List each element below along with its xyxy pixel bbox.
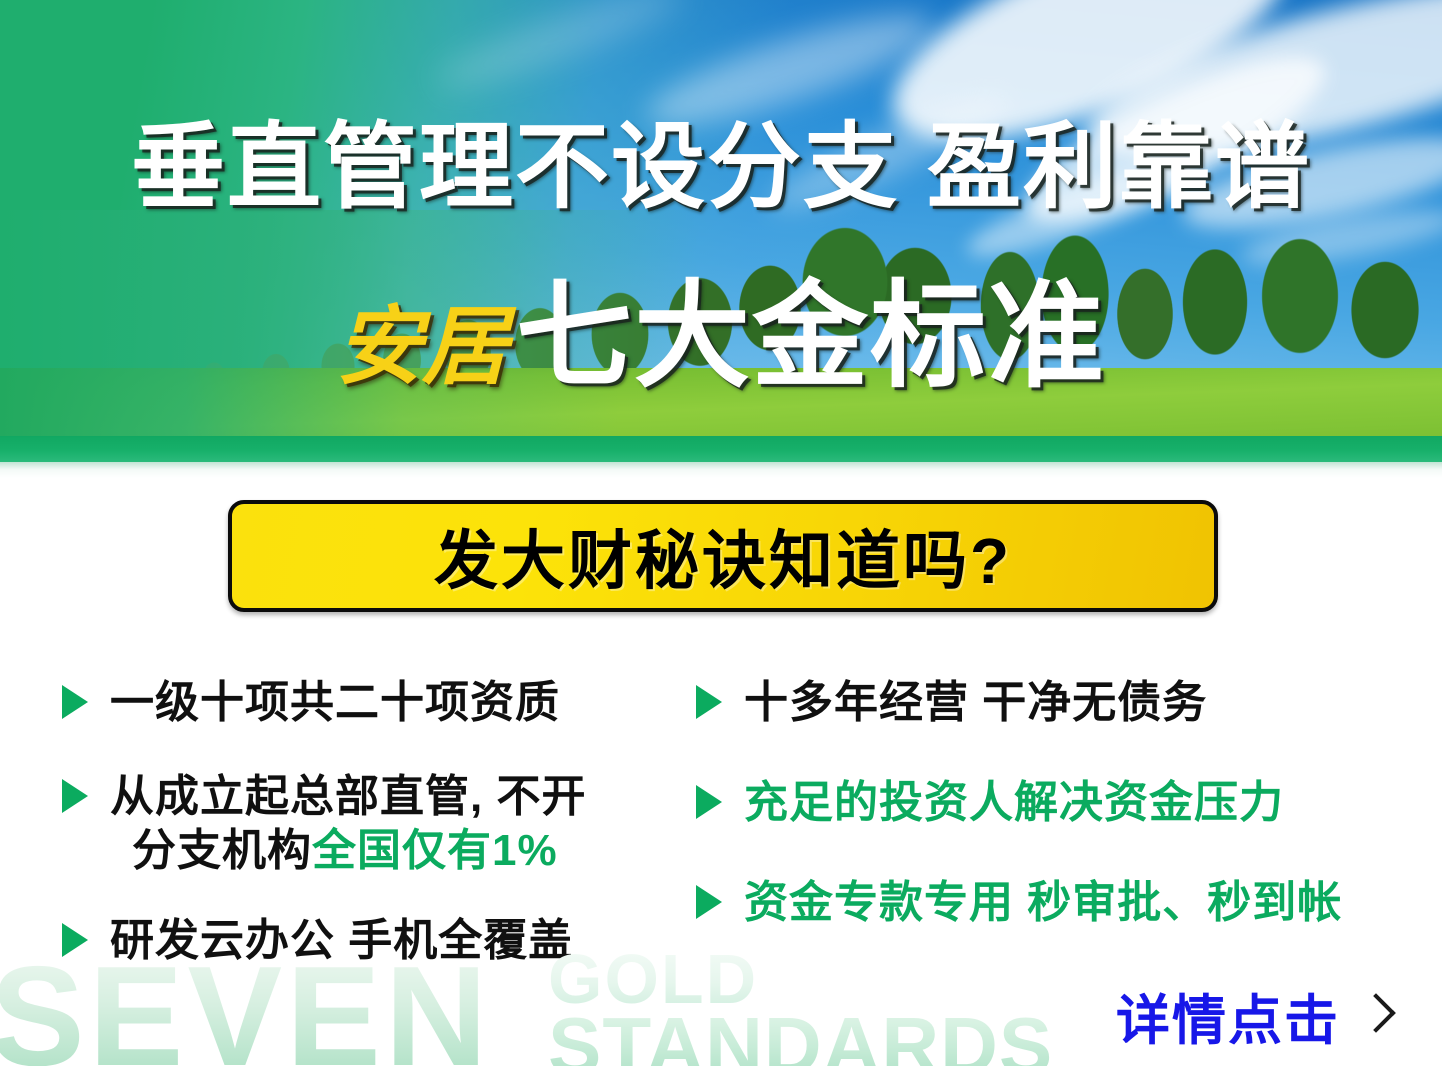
feature-list: 一级十项共二十项资质 从成立起总部直管, 不开 分支机构全国仅有1% 研发云办公… [0,658,1442,978]
hero-headline-primary: 垂直管理不设分支 盈利靠谱 [0,120,1442,214]
question-banner-text: 发大财秘诀知道吗? [434,510,1012,602]
hero-drop-shadow [0,462,1442,478]
feature-item-line2-plain: 分支机构 [132,826,312,875]
feature-item: 从成立起总部直管, 不开 分支机构全国仅有1% [62,770,586,877]
advertisement-banner: 垂直管理不设分支 盈利靠谱 安居七大金标准 发大财秘诀知道吗? 一级十项共二十项… [0,0,1442,1066]
feature-item-highlight: 全国仅有1% [312,826,558,875]
feature-item-label: 充足的投资人解决资金压力 [744,776,1284,830]
triangle-bullet-icon [62,685,88,719]
feature-item-label: 从成立起总部直管, 不开 分支机构全国仅有1% [110,770,586,877]
feature-item: 研发云办公 手机全覆盖 [62,914,573,968]
feature-item-label: 十多年经营 干净无债务 [744,676,1207,730]
feature-item: 十多年经营 干净无债务 [696,676,1207,730]
brand-name: 安居 [336,299,508,395]
hero-headline-secondary-text: 七大金标准 [516,271,1106,401]
feature-item-line1: 从成立起总部直管, 不开 [110,772,586,821]
details-cta-label: 详情点击 [1116,976,1340,1055]
triangle-bullet-icon [696,785,722,819]
feature-item: 一级十项共二十项资质 [62,676,560,730]
watermark-standards: STANDARDS [548,1006,1053,1066]
feature-item-label: 资金专款专用 秒审批、秒到帐 [744,876,1342,930]
triangle-bullet-icon [696,885,722,919]
hero-bottom-band [0,436,1442,462]
details-cta-button[interactable]: 详情点击 [1116,976,1384,1055]
question-banner[interactable]: 发大财秘诀知道吗? [228,500,1218,612]
feature-item-label: 研发云办公 手机全覆盖 [110,914,573,968]
triangle-bullet-icon [696,685,722,719]
feature-item: 资金专款专用 秒审批、秒到帐 [696,876,1342,930]
triangle-bullet-icon [62,923,88,957]
hero-headline-secondary: 安居七大金标准 [0,278,1442,394]
hero-section: 垂直管理不设分支 盈利靠谱 安居七大金标准 [0,0,1442,462]
chevron-right-icon [1362,996,1384,1038]
feature-item: 充足的投资人解决资金压力 [696,776,1284,830]
triangle-bullet-icon [62,779,88,813]
feature-item-line2: 分支机构全国仅有1% [132,824,586,878]
feature-item-label: 一级十项共二十项资质 [110,676,560,730]
